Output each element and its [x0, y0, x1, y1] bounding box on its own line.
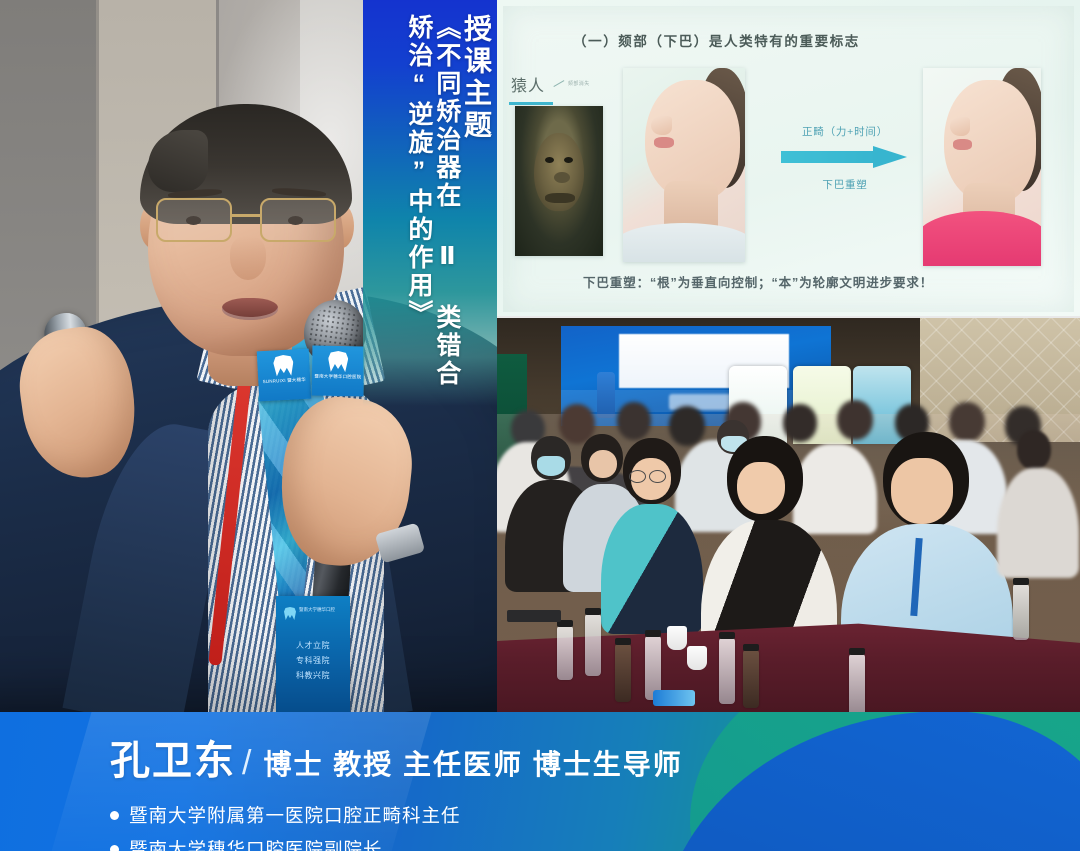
audience-head-back	[837, 400, 873, 440]
audience-head-back	[669, 406, 705, 446]
profile-lips	[654, 137, 673, 148]
glasses-bridge	[232, 214, 260, 217]
water-bottle	[1013, 584, 1029, 640]
profile-nose	[651, 116, 672, 135]
right-arrow-icon	[781, 146, 909, 168]
rollup-banner: 暨南大学穗华口腔 人才立院 专科强院 科教兴院	[276, 596, 350, 712]
tooth-logo-icon	[273, 355, 294, 377]
lecture-title-columns: 授课主题 《不同矫治器在 Ⅱ 类错合 矫治“逆旋”中的作用》	[363, 0, 497, 406]
mic-flag-left: SUNRUIXI 暨大穗华	[257, 349, 312, 402]
rollup-banner-logo-text: 暨南大学穗华口腔	[299, 607, 335, 612]
credential-item: 暨南大学穗华口腔医院副院长	[110, 836, 683, 851]
water-bottle	[849, 654, 865, 712]
audience-head-back	[783, 404, 817, 442]
rollup-banner-logo: 暨南大学穗华口腔	[284, 606, 342, 622]
bullet-icon	[110, 845, 119, 851]
rollup-line-2: 专科强院	[276, 653, 350, 668]
slide-label-apeman: 猿人	[511, 72, 545, 96]
bottle-cap	[1013, 578, 1029, 585]
audience-face-mid	[589, 450, 617, 478]
credential-text-1: 暨南大学附属第一医院口腔正畸科主任	[129, 802, 461, 828]
paper-cup	[687, 646, 707, 670]
lecture-title-band: 授课主题 《不同矫治器在 Ⅱ 类错合 矫治“逆旋”中的作用》	[363, 0, 497, 406]
bottle-cap	[849, 648, 865, 655]
audience-body-back	[793, 444, 877, 534]
bottle-cap	[585, 608, 601, 615]
bullet-icon	[110, 811, 119, 820]
lecture-title-heading: 授课主题	[462, 14, 491, 406]
speaker-credentials-list: 暨南大学附属第一医院口腔正畸科主任 暨南大学穗华口腔医院副院长	[110, 802, 683, 851]
audience-face-front-3	[891, 458, 953, 524]
bottle-cap	[645, 630, 661, 637]
pen-icon	[553, 80, 564, 87]
face-mask-icon	[537, 456, 565, 476]
profile-nose	[950, 117, 970, 137]
speaker-info-bar: 孔卫东 / 博士 教授 主任医师 博士生导师 暨南大学附属第一医院口腔正畸科主任…	[0, 712, 1080, 851]
credential-item: 暨南大学附属第一医院口腔正畸科主任	[110, 802, 683, 828]
lecture-title-line2: 《不同矫治器在 Ⅱ 类错合	[434, 14, 460, 406]
apeman-mouth	[545, 193, 575, 203]
water-bottle	[719, 638, 735, 704]
profile-lips	[953, 139, 971, 150]
audience-head-right	[1017, 430, 1051, 470]
stage-blue-object	[597, 372, 615, 418]
profile-shoulder	[923, 211, 1041, 266]
lens-left	[156, 198, 232, 242]
rollup-banner-lines: 人才立院 专科强院 科教兴院	[276, 638, 350, 683]
arrow-label-top: 正畸（力+时间）	[771, 124, 919, 139]
audience-crowd	[497, 414, 1080, 712]
apeman-eye-left	[545, 157, 554, 163]
presentation-slide-photo: （一）颏部（下巴）是人类特有的重要标志 猿人 颏部消失	[497, 0, 1080, 316]
speaker-name: 孔卫东	[110, 728, 236, 786]
paper-cup	[667, 626, 687, 650]
snack-packet	[653, 690, 695, 706]
slide-label-note-text: 颏部消失	[568, 81, 590, 87]
slide-image-profile-before	[623, 68, 745, 262]
slide-label-note: 颏部消失	[553, 80, 590, 87]
poster-canvas: SUNRUIXI 暨大穗华 暨南大学穗华口腔医院 暨南大学穗华口腔 人才立院 专…	[0, 0, 1080, 851]
audience-head-back	[949, 402, 985, 442]
beverage-bottle	[743, 650, 759, 708]
slide-image-apeman	[515, 106, 603, 256]
nose	[230, 236, 266, 280]
apeman-nose	[554, 172, 570, 183]
bottle-cap	[719, 632, 735, 639]
rollup-line-3: 科教兴院	[276, 668, 350, 683]
audience-head-back	[617, 402, 651, 440]
rollup-line-1: 人才立院	[276, 638, 350, 653]
profile-shoulder	[623, 223, 745, 262]
arrow-label-bottom: 下巴重塑	[771, 177, 919, 192]
slide-underline	[509, 102, 553, 105]
mic-flag-right-text: 暨南大学穗华口腔医院	[312, 374, 364, 381]
audience-glasses	[649, 470, 666, 483]
audience-glasses	[629, 470, 646, 483]
slide-footer-text: 下巴重塑：“根”为垂直向控制；“本”为轮廓文明进步要求！	[583, 272, 933, 291]
water-bottle	[557, 626, 573, 680]
audience-face-front-2	[737, 462, 785, 514]
treatment-arrow-annotation: 正畸（力+时间） 下巴重塑	[771, 124, 919, 192]
speaker-name-row: 孔卫东 / 博士 教授 主任医师 博士生导师	[110, 728, 683, 786]
mobile-phone	[507, 610, 561, 622]
audience-body-right	[997, 468, 1079, 578]
audience-body-front-1	[601, 504, 703, 634]
tooth-logo-icon	[328, 351, 348, 372]
speaker-info-content: 孔卫东 / 博士 教授 主任医师 博士生导师 暨南大学附属第一医院口腔正畸科主任…	[110, 728, 683, 851]
slide-surface: （一）颏部（下巴）是人类特有的重要标志 猿人 颏部消失	[503, 6, 1074, 312]
mic-flag-right: 暨南大学穗华口腔医院	[312, 346, 365, 397]
credential-text-2: 暨南大学穗华口腔医院副院长	[129, 836, 383, 851]
bottle-cap	[743, 644, 759, 651]
speaker-titles: 博士 教授 主任医师 博士生导师	[263, 743, 682, 783]
mic-flag-left-text: SUNRUIXI 暨大穗华	[258, 377, 310, 386]
bottle-cap	[615, 638, 631, 645]
mouth	[222, 298, 278, 320]
name-separator: /	[242, 744, 251, 783]
slide-image-profile-after	[923, 68, 1041, 266]
lens-right	[260, 198, 336, 242]
audience-photo	[497, 318, 1080, 712]
lecture-title-line3: 矫治“逆旋”中的作用》	[406, 14, 432, 406]
beverage-bottle	[615, 644, 631, 702]
slide-title: （一）颏部（下巴）是人类特有的重要标志	[573, 30, 860, 50]
water-bottle	[585, 614, 601, 676]
tooth-logo-icon	[284, 607, 296, 620]
